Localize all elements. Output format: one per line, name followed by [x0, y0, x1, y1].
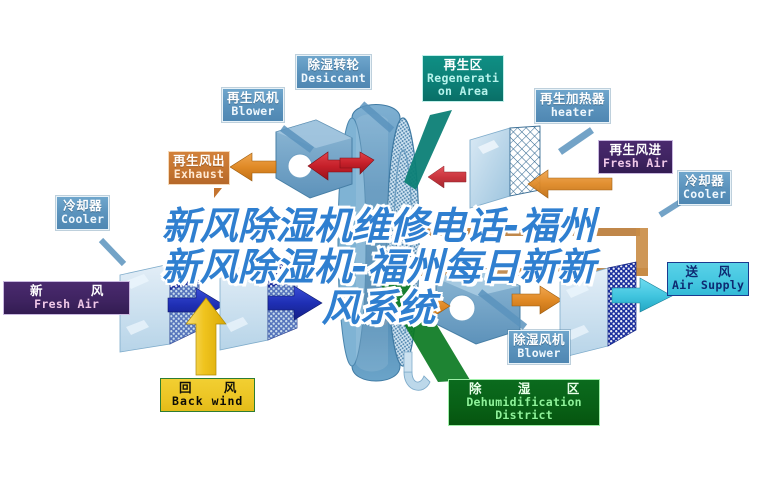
label-cooler-left[interactable]: 冷却器 Cooler — [56, 196, 109, 230]
label-dehum-district-en2: District — [453, 409, 595, 422]
label-dehumidification-district[interactable]: 除 湿 区 Dehumidification District — [448, 379, 600, 426]
label-regen-fresh-air-cn: 再生风进 — [603, 143, 668, 157]
label-fresh-air-cn: 新 风 — [8, 284, 125, 298]
label-regen-blower-en: Blower — [227, 105, 279, 118]
label-exhaust-en: Exhaust — [173, 168, 225, 181]
label-dehum-blower[interactable]: 除湿风机 Blower — [508, 330, 570, 364]
label-regeneration-area-en2: on Area — [427, 85, 499, 98]
label-fresh-air-en: Fresh Air — [8, 298, 125, 311]
label-dehum-blower-en: Blower — [513, 347, 565, 360]
label-regen-heater-cn: 再生加热器 — [540, 92, 605, 106]
label-regen-blower[interactable]: 再生风机 Blower — [222, 88, 284, 122]
regen-heater-housing — [470, 126, 540, 208]
label-regen-heater-en: heater — [540, 106, 605, 119]
label-dehum-district-en1: Dehumidification — [453, 396, 595, 409]
label-fresh-air[interactable]: 新 风 Fresh Air — [3, 281, 130, 315]
label-desiccant-en: Desiccant — [301, 72, 366, 85]
label-desiccant[interactable]: 除湿转轮 Desiccant — [296, 55, 371, 89]
label-cooler-right-cn: 冷却器 — [683, 174, 726, 188]
supply-duct-block — [560, 262, 636, 358]
label-cooler-left-cn: 冷却器 — [61, 199, 104, 213]
label-regen-fresh-air-en: Fresh Air — [603, 157, 668, 170]
regen-area-arrow — [428, 166, 466, 188]
label-back-wind-en: Back wind — [165, 395, 250, 408]
label-dehum-blower-cn: 除湿风机 — [513, 333, 565, 347]
label-cooler-left-en: Cooler — [61, 213, 104, 226]
label-regeneration-area-cn: 再生区 — [427, 58, 499, 72]
label-cooler-right-en: Cooler — [683, 188, 726, 201]
label-dehum-district-cn: 除 湿 区 — [453, 382, 595, 396]
label-air-supply[interactable]: 送 风 Air Supply — [667, 262, 749, 296]
label-regen-heater[interactable]: 再生加热器 heater — [535, 89, 610, 123]
label-cooler-right[interactable]: 冷却器 Cooler — [678, 171, 731, 205]
label-back-wind-cn: 回 风 — [165, 381, 250, 395]
label-exhaust-cn: 再生风出 — [173, 154, 225, 168]
diagram-canvas: 除湿转轮 Desiccant 再生风机 Blower 再生区 Regenerat… — [0, 0, 757, 488]
label-desiccant-cn: 除湿转轮 — [301, 58, 366, 72]
exhaust-callout-tail — [214, 188, 222, 198]
label-regeneration-area[interactable]: 再生区 Regenerati on Area — [422, 55, 504, 102]
diagram-artwork — [0, 0, 757, 488]
label-regeneration-area-en1: Regenerati — [427, 72, 499, 85]
label-exhaust[interactable]: 再生风出 Exhaust — [168, 151, 230, 185]
label-air-supply-en: Air Supply — [672, 279, 744, 292]
label-air-supply-cn: 送 风 — [672, 265, 744, 279]
exhaust-arrow — [230, 153, 276, 181]
regen-supply-arrow — [528, 170, 612, 198]
label-back-wind[interactable]: 回 风 Back wind — [160, 378, 255, 412]
label-regen-blower-cn: 再生风机 — [227, 91, 279, 105]
label-regen-fresh-air[interactable]: 再生风进 Fresh Air — [598, 140, 673, 174]
